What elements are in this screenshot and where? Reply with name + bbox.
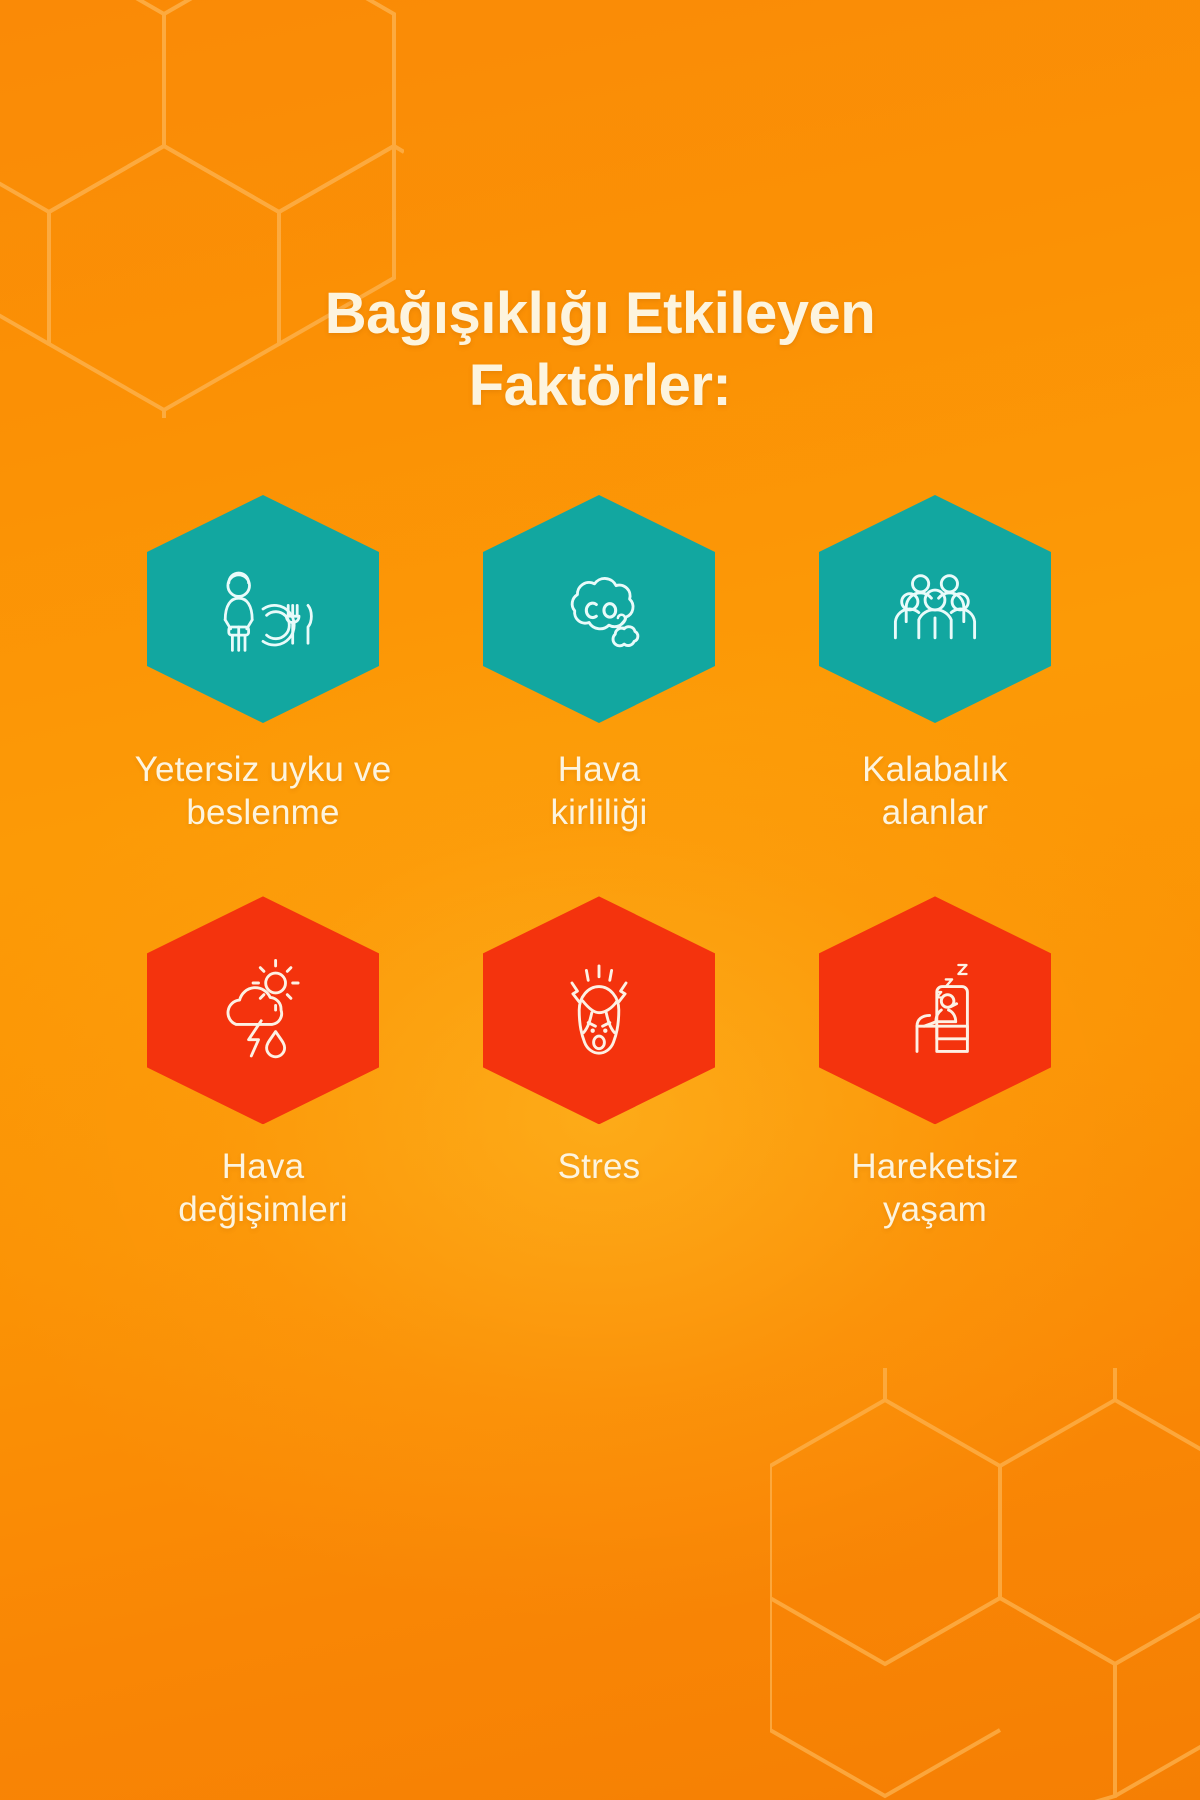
factor-label: Hava değişimleri bbox=[178, 1146, 347, 1231]
factor-card-weather-changes[interactable]: Hava değişimleri bbox=[95, 896, 431, 1231]
title-line-2: Faktörler: bbox=[0, 350, 1200, 422]
co2-cloud-icon bbox=[545, 555, 653, 663]
factor-card-crowded-areas[interactable]: Kalabalık alanlar bbox=[767, 495, 1103, 834]
infographic-poster: Bağışıklığı Etkileyen Faktörler: bbox=[0, 0, 1200, 1800]
person-plate-fork-knife-icon bbox=[209, 555, 317, 663]
factors-grid: Yetersiz uyku ve beslenme bbox=[95, 495, 1105, 1232]
sun-cloud-rain-icon bbox=[209, 956, 317, 1064]
factor-label: Kalabalık alanlar bbox=[862, 749, 1008, 834]
factor-card-insufficient-sleep-nutrition[interactable]: Yetersiz uyku ve beslenme bbox=[95, 495, 431, 834]
factors-row-2: Hava değişimleri bbox=[95, 896, 1105, 1231]
hexagon-badge bbox=[483, 896, 715, 1124]
stressed-face-icon bbox=[545, 956, 653, 1064]
factor-label: Hareketsiz yaşam bbox=[851, 1146, 1018, 1231]
factor-label: Hava kirliliği bbox=[550, 749, 647, 834]
hexagon-lattice-pattern-bottom-right bbox=[770, 1360, 1200, 1800]
factor-card-air-pollution[interactable]: Hava kirliliği bbox=[431, 495, 767, 834]
factor-card-stress[interactable]: Stres bbox=[431, 896, 767, 1231]
page-title: Bağışıklığı Etkileyen Faktörler: bbox=[0, 278, 1200, 422]
hexagon-badge bbox=[819, 896, 1051, 1124]
hexagon-badge bbox=[147, 896, 379, 1124]
hexagon-badge bbox=[483, 495, 715, 723]
hexagon-badge bbox=[147, 495, 379, 723]
title-line-1: Bağışıklığı Etkileyen bbox=[0, 278, 1200, 350]
factor-label: Stres bbox=[558, 1146, 641, 1189]
crowd-people-icon bbox=[881, 555, 989, 663]
hexagon-badge bbox=[819, 495, 1051, 723]
factor-card-sedentary-life[interactable]: Hareketsiz yaşam bbox=[767, 896, 1103, 1231]
person-sleeping-armchair-icon bbox=[881, 956, 989, 1064]
factor-label: Yetersiz uyku ve beslenme bbox=[135, 749, 392, 834]
factors-row-1: Yetersiz uyku ve beslenme bbox=[95, 495, 1105, 834]
